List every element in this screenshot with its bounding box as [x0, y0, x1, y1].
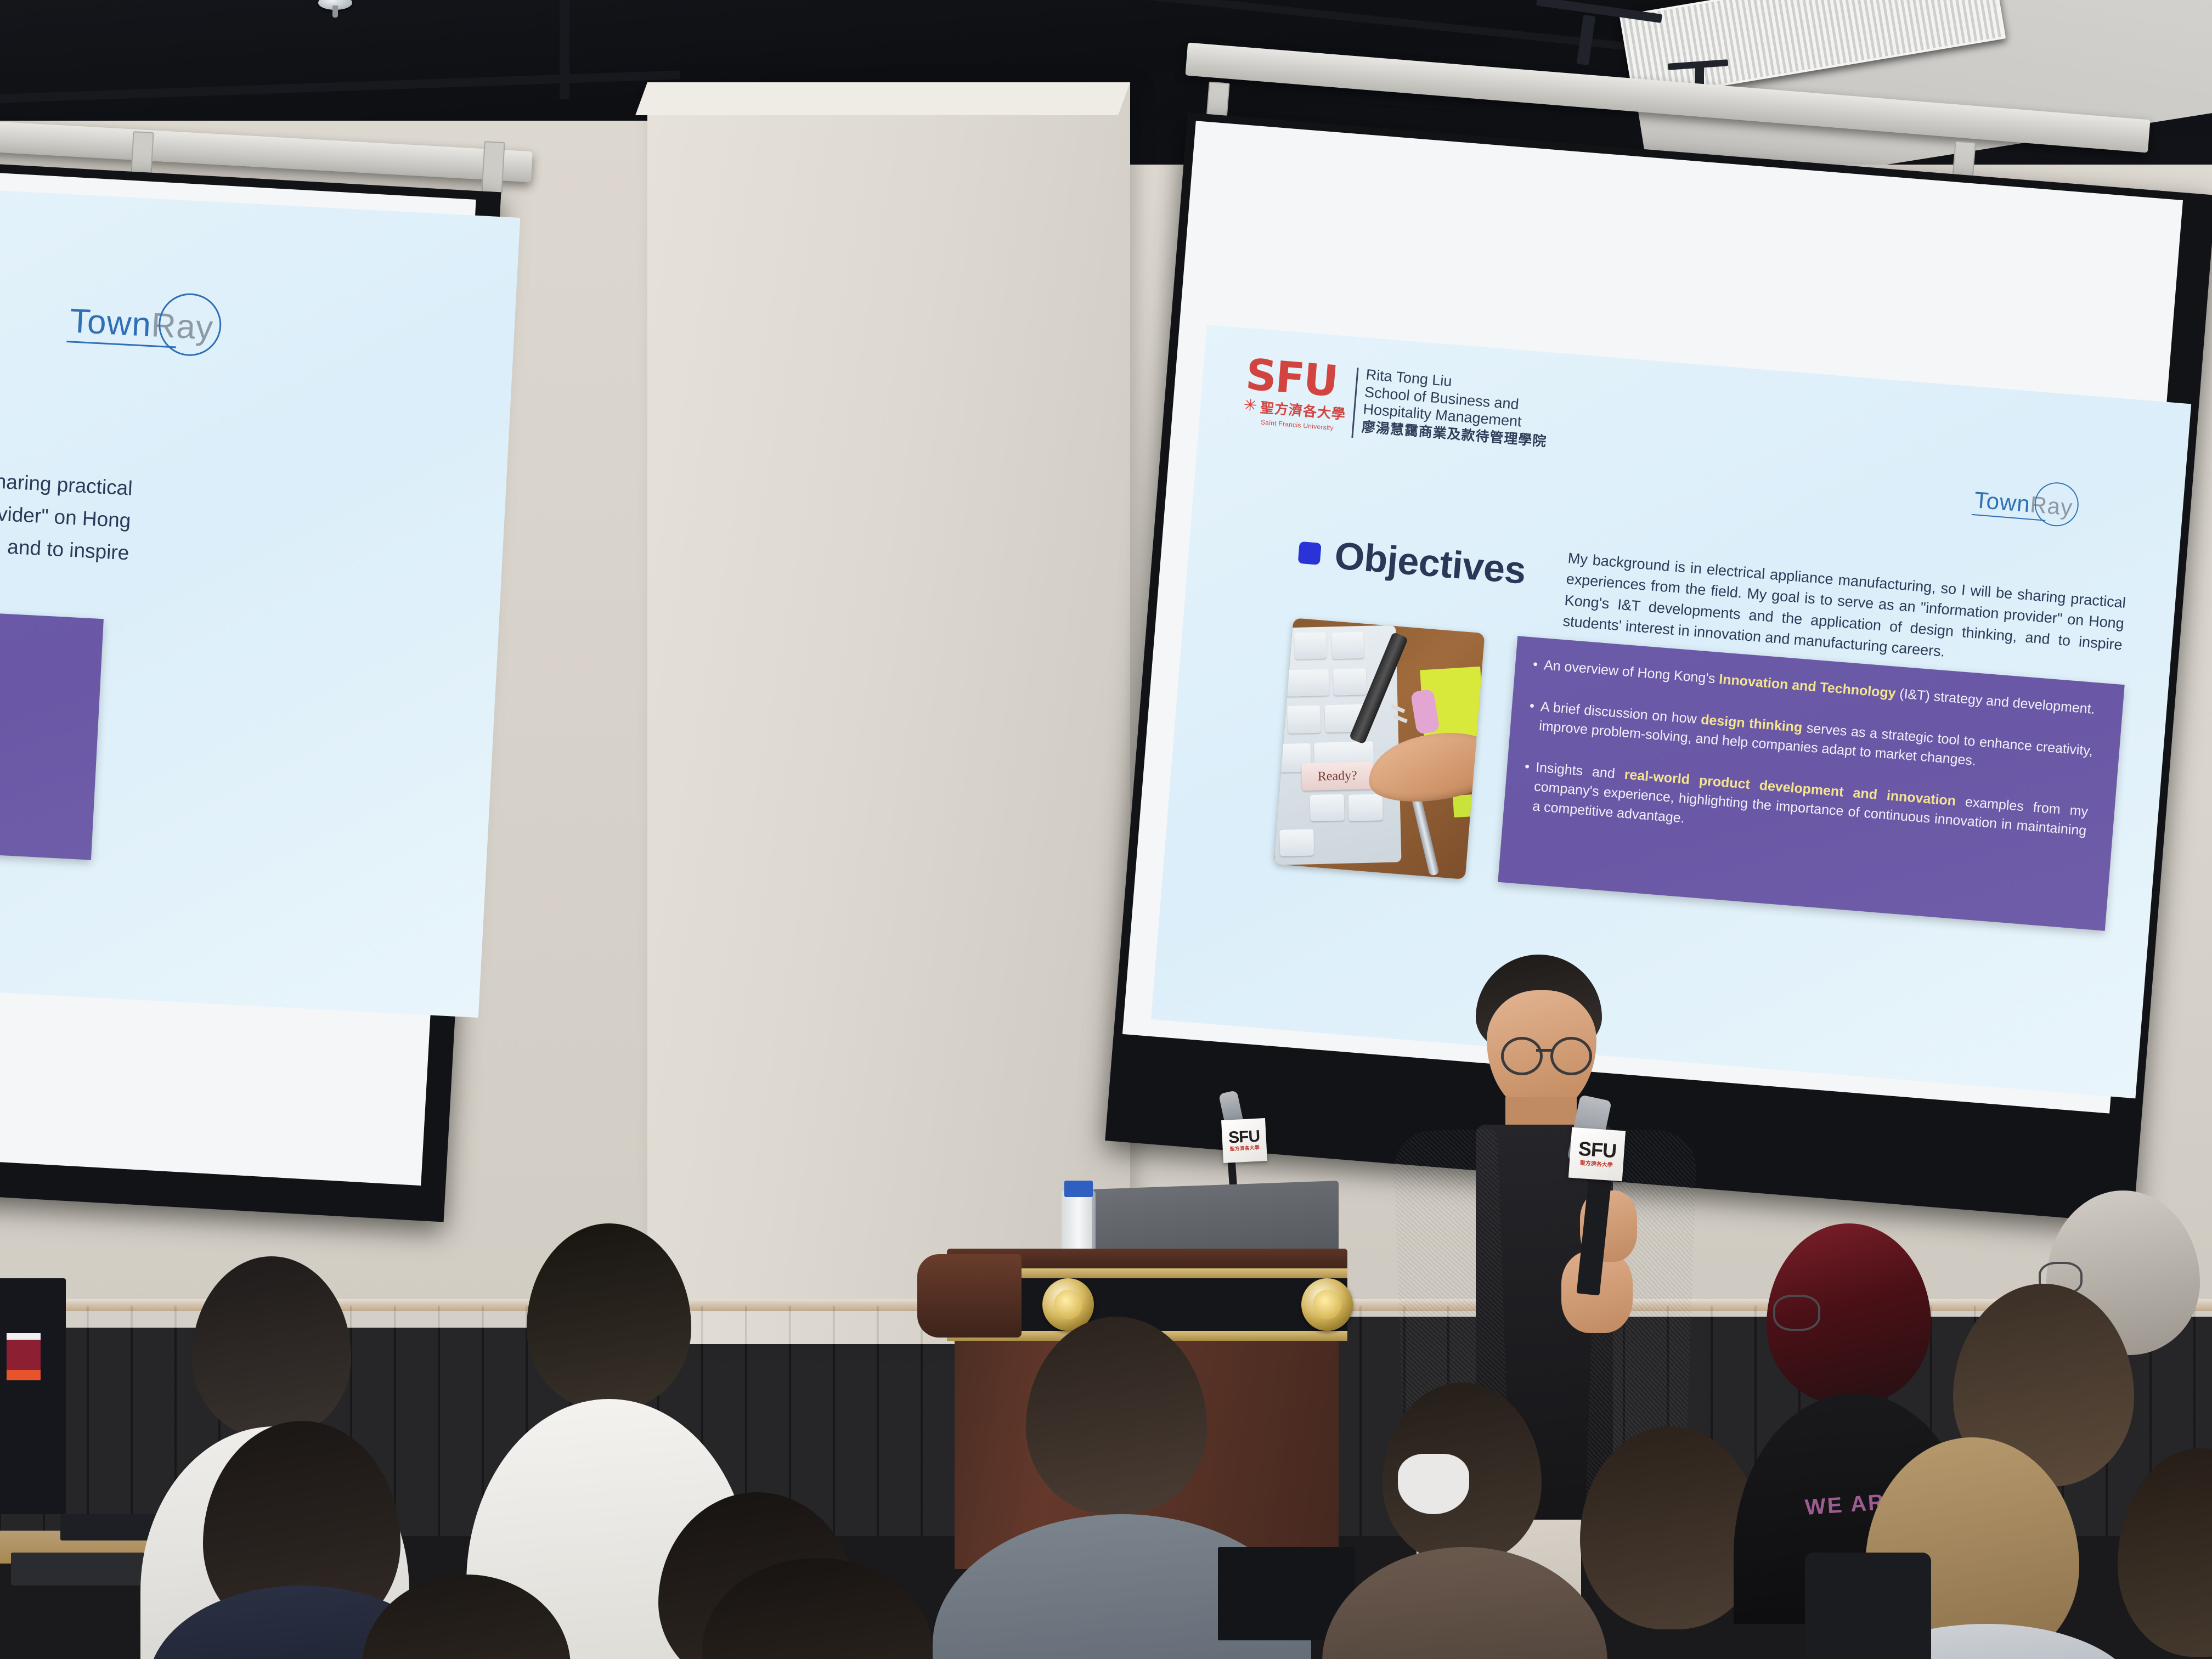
- glasses-icon: [1501, 1037, 1543, 1075]
- page-title: Objectives: [1333, 533, 1527, 592]
- townray-logo-ring: [2033, 481, 2080, 528]
- ready-key: Ready?: [1301, 761, 1373, 791]
- bullet-highlight: Innovation and Technology: [1718, 672, 1896, 701]
- lecture-hall-photo: TownRay ring, so I will be sharing pract…: [0, 0, 2212, 1659]
- bullets-box: •An overview of Hong Kong's Innovation a…: [1498, 636, 2125, 931]
- townray-logo-town: Town: [1973, 487, 2032, 517]
- townray-logo: TownRay: [69, 301, 214, 348]
- monitor-sticker: [7, 1333, 41, 1380]
- keyboard-key: [1310, 794, 1345, 822]
- left-bullets-box: echnology (I&T) strategy and erves as a …: [0, 599, 104, 860]
- townray-logo-ring: [157, 292, 223, 358]
- keyboard-key: [1348, 794, 1383, 821]
- classroom-monitor: [0, 1278, 66, 1514]
- mic-flag-sfu-label: SFU: [1228, 1129, 1260, 1145]
- bullet-dot-icon: •: [1532, 655, 1539, 675]
- bullet-highlight: design thinking: [1700, 712, 1803, 735]
- podium-emblem: [1301, 1278, 1353, 1331]
- keyboard-key: [1294, 632, 1327, 659]
- speaker-mic-flag: SFU 聖方濟各大學: [1568, 1127, 1626, 1182]
- sfu-star-icon: ✳: [1243, 397, 1257, 415]
- keyboard-key: [1287, 706, 1321, 733]
- townray-logo: TownRay: [1973, 487, 2074, 521]
- wall-column-top: [635, 82, 1130, 115]
- face-mask: [1398, 1454, 1469, 1514]
- sticky-note: [1453, 794, 1480, 817]
- sfu-school-text: Rita Tong Liu School of Business and Hos…: [1361, 366, 1551, 450]
- keyboard-photo: Ready?: [1274, 618, 1485, 879]
- sfu-letters: SFU: [1244, 357, 1339, 400]
- glasses-icon: [1550, 1037, 1592, 1075]
- bullet-dot-icon: •: [1524, 757, 1531, 777]
- glasses-bridge: [1536, 1049, 1553, 1052]
- title-bullet-square-icon: [1298, 541, 1322, 565]
- wall-column: [647, 82, 1130, 1344]
- left-screen-bracket: [481, 141, 505, 194]
- left-slide-content: TownRay ring, so I will be sharing pract…: [0, 181, 520, 1018]
- mic-flag-sfu-label: SFU: [1578, 1140, 1617, 1160]
- keyboard-key: [1333, 668, 1367, 695]
- sfu-logo: SFU ✳ 聖方濟各大學 Saint Francis University Ri…: [1242, 357, 1551, 453]
- chair-back: [1805, 1553, 1931, 1659]
- left-intro-fragment: ring, so I will be sharing practical n "…: [0, 453, 133, 602]
- ceiling-beam: [560, 0, 569, 99]
- podium-side-roll: [917, 1254, 1022, 1338]
- mic-flag-chinese-label: 聖方濟各大學: [1579, 1158, 1613, 1169]
- keyboard-key: [1331, 632, 1364, 659]
- keyboard-key: [1279, 829, 1314, 856]
- sfu-divider: [1352, 368, 1359, 438]
- desk-keyboard: [11, 1553, 154, 1585]
- mic-flag-chinese-label: 聖方濟各大學: [1229, 1144, 1260, 1153]
- water-bottle-cap: [1064, 1181, 1093, 1197]
- glasses-icon: [1773, 1295, 1820, 1331]
- sfu-mark: SFU ✳ 聖方濟各大學 Saint Francis University: [1242, 357, 1350, 433]
- keyboard-key: [1286, 669, 1329, 697]
- pen-icon: [1411, 794, 1440, 876]
- podium-mic-flag: SFU 聖方濟各大學: [1221, 1118, 1267, 1163]
- townray-logo-town: Town: [69, 302, 152, 344]
- bullet-dot-icon: •: [1529, 696, 1536, 716]
- slide-title: Objectives: [1297, 531, 1527, 592]
